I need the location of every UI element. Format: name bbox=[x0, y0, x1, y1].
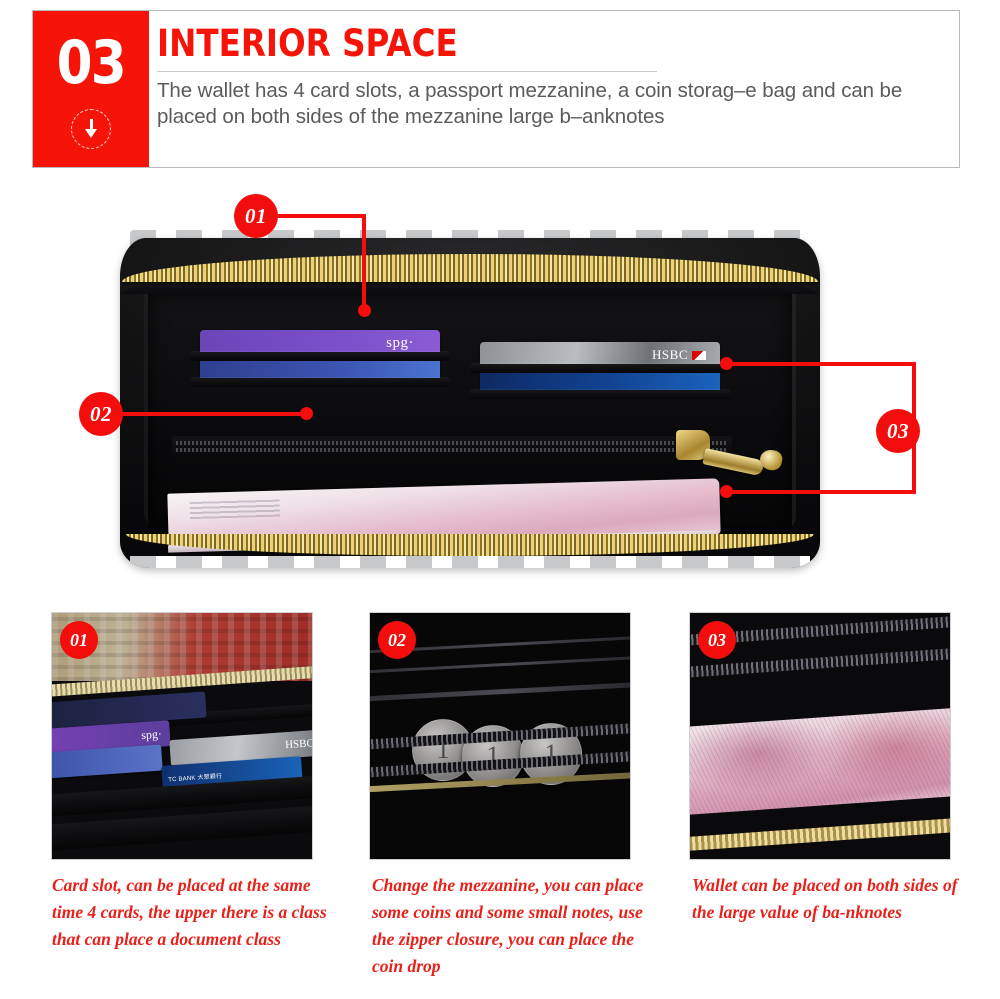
card-slot-lip bbox=[190, 378, 450, 387]
thumbnail-02[interactable]: 1 1 1 02 bbox=[369, 612, 631, 860]
callout-03-endpoint-bottom bbox=[720, 485, 733, 498]
card-slot-lip bbox=[470, 390, 730, 399]
wallet-body: spg· HSBC bbox=[120, 238, 820, 568]
thumbnail-badge-label: 02 bbox=[388, 630, 406, 651]
card-brand-label: HSBC bbox=[285, 737, 313, 751]
step-number-badge: 03 bbox=[33, 11, 149, 167]
header-body: INTERIOR SPACE The wallet has 4 card slo… bbox=[157, 11, 953, 167]
mezzanine-zipper bbox=[172, 436, 732, 456]
background-tabs-bottom bbox=[130, 556, 810, 568]
infographic-page: 03 INTERIOR SPACE The wallet has 4 card … bbox=[0, 0, 1000, 999]
callout-badge-03: 03 bbox=[876, 409, 920, 453]
thumbnail-badge-02: 02 bbox=[378, 621, 416, 659]
header-description: The wallet has 4 card slots, a passport … bbox=[157, 78, 947, 131]
thumbnail-badge-label: 01 bbox=[70, 630, 88, 651]
hsbc-logo-icon bbox=[692, 351, 706, 360]
page-title: INTERIOR SPACE bbox=[157, 11, 857, 64]
thumb2-seam bbox=[369, 681, 631, 701]
callout-02-leader bbox=[121, 412, 309, 416]
thumb3-gold-zipper bbox=[689, 816, 951, 852]
thumbnail-03[interactable]: 03 bbox=[689, 612, 951, 860]
title-divider bbox=[157, 71, 657, 72]
thumbnail-badge-03: 03 bbox=[698, 621, 736, 659]
card-brand-label: TC BANK 大眾銀行 bbox=[168, 770, 223, 783]
thumbnail-badge-label: 03 bbox=[708, 630, 726, 651]
step-number: 03 bbox=[57, 33, 125, 93]
callout-badge-02: 02 bbox=[79, 392, 123, 436]
card-slot-lip bbox=[190, 352, 450, 361]
card-brand-label: spg· bbox=[386, 335, 414, 352]
callout-03-endpoint-top bbox=[720, 357, 733, 370]
zipper-bottom-gold bbox=[126, 534, 814, 556]
callout-01-leader-h bbox=[276, 214, 366, 218]
callout-03-leader-top bbox=[726, 362, 916, 366]
thumbnail-01[interactable]: spg· HSBC TC BANK 大眾銀行 01 bbox=[51, 612, 313, 860]
card-brand-label: spg· bbox=[141, 726, 163, 742]
card-slot-lip bbox=[470, 364, 730, 373]
callout-badge-01: 01 bbox=[234, 194, 278, 238]
card-slot-group-left: spg· bbox=[200, 330, 440, 406]
callout-03-leader-bottom bbox=[726, 490, 916, 494]
zipper-top-gold bbox=[122, 254, 818, 282]
thumbnail-badge-01: 01 bbox=[60, 621, 98, 659]
card-brand-label: HSBC bbox=[652, 347, 688, 363]
section-header: 03 INTERIOR SPACE The wallet has 4 card … bbox=[32, 10, 960, 168]
callout-01-leader-v bbox=[362, 214, 366, 310]
thumb3-banknotes bbox=[689, 706, 951, 815]
callout-01-endpoint bbox=[358, 304, 371, 317]
caption-row: Card slot, can be placed at the same tim… bbox=[0, 872, 1000, 999]
detail-thumbnail-row: spg· HSBC TC BANK 大眾銀行 01 bbox=[0, 612, 1000, 872]
hero-product-photo: spg· HSBC bbox=[0, 180, 1000, 600]
caption-03: Wallet can be placed on both sides of th… bbox=[692, 872, 982, 926]
down-arrow-icon bbox=[71, 109, 111, 149]
caption-02: Change the mezzanine, you can place some… bbox=[372, 872, 662, 981]
callout-label: 01 bbox=[245, 204, 267, 229]
card-slot-group-right: HSBC bbox=[480, 342, 720, 416]
callout-label: 03 bbox=[887, 419, 909, 444]
callout-02-endpoint bbox=[300, 407, 313, 420]
caption-01: Card slot, can be placed at the same tim… bbox=[52, 872, 332, 953]
callout-label: 02 bbox=[90, 402, 112, 427]
thumb2-seam bbox=[369, 655, 631, 673]
wallet-image: spg· HSBC bbox=[120, 228, 820, 568]
